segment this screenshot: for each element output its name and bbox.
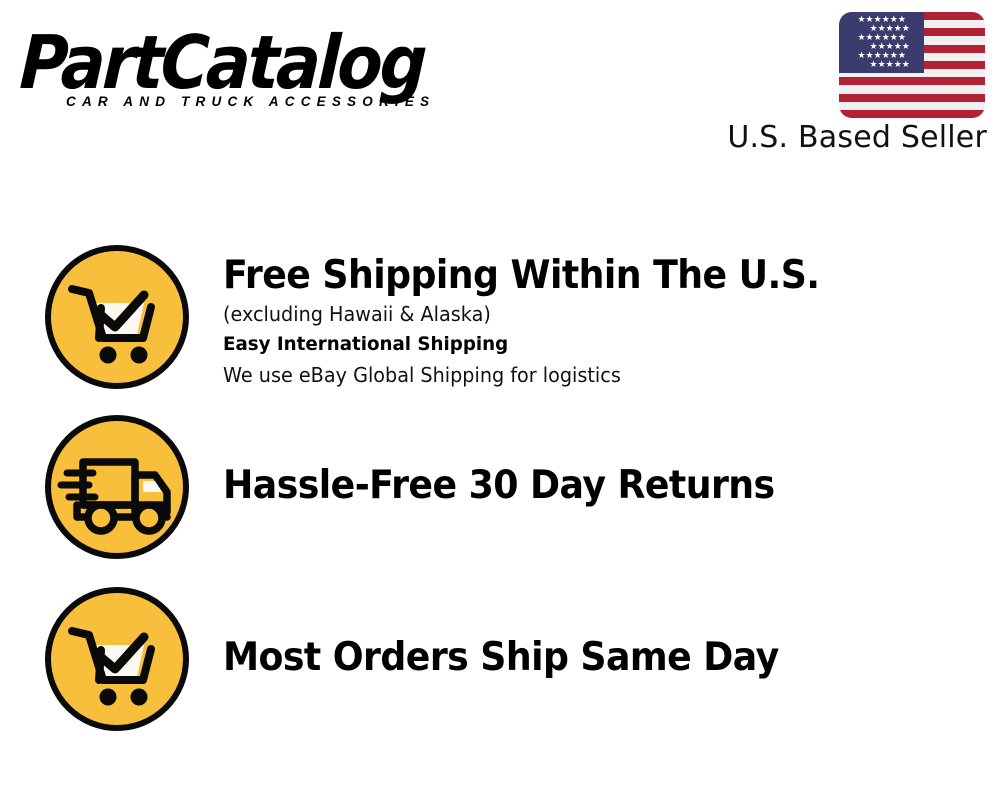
delivery-truck-icon: [43, 413, 191, 561]
feature-sub-text: We use eBay Global Shipping for logistic…: [223, 360, 969, 390]
feature-row: Free Shipping Within The U.S. (excluding…: [0, 243, 1000, 391]
feature-headline: Free Shipping Within The U.S.: [223, 253, 946, 299]
feature-row: Most Orders Ship Same Day: [0, 585, 1000, 733]
us-flag-icon: ★★★★★★ ★★★★★ ★★★★★★ ★★★★★ ★★★★★★ ★★★★★: [839, 12, 985, 118]
feature-headline: Hassle-Free 30 Day Returns: [223, 463, 946, 509]
feature-note: (excluding Hawaii & Alaska): [223, 299, 969, 329]
feature-text: Free Shipping Within The U.S. (excluding…: [223, 243, 1000, 390]
feature-headline: Most Orders Ship Same Day: [223, 635, 946, 681]
shopping-cart-check-icon: [43, 585, 191, 733]
feature-text: Hassle-Free 30 Day Returns: [223, 413, 1000, 509]
feature-sub-heading: Easy International Shipping: [223, 329, 969, 360]
flag-canton: ★★★★★★ ★★★★★ ★★★★★★ ★★★★★ ★★★★★★ ★★★★★: [839, 12, 924, 73]
page-header: PartCatalog CAR AND TRUCK ACCESSORIES ★★…: [0, 0, 1000, 175]
brand-logo[interactable]: PartCatalog CAR AND TRUCK ACCESSORIES: [22, 22, 492, 117]
shopping-cart-check-icon: [43, 243, 191, 391]
brand-tagline: CAR AND TRUCK ACCESSORIES: [66, 94, 435, 109]
seller-label: U.S. Based Seller: [727, 120, 987, 156]
brand-wordmark: PartCatalog: [18, 22, 426, 105]
us-based-seller-block: ★★★★★★ ★★★★★ ★★★★★★ ★★★★★ ★★★★★★ ★★★★★ U…: [727, 8, 987, 158]
feature-text: Most Orders Ship Same Day: [223, 585, 1000, 681]
feature-row: Hassle-Free 30 Day Returns: [0, 413, 1000, 561]
